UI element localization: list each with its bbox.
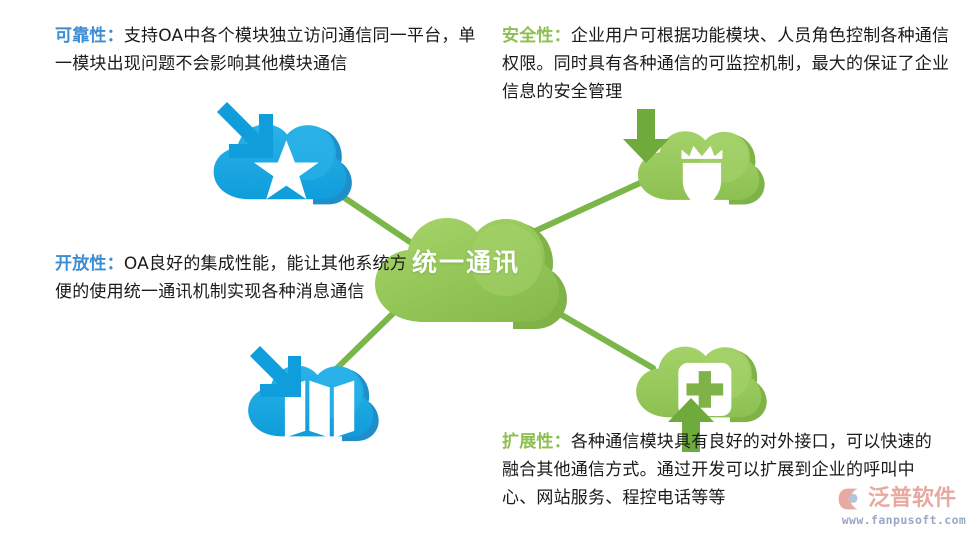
diagram-canvas: 统一通讯 可靠性：支持OA中各个模块独立访问通信同一平台，单一模块出现问题不会影… <box>0 0 976 538</box>
watermark: 泛普软件 www.fanpusoft.com <box>838 486 970 532</box>
text-block-openness: 开放性：OA良好的集成性能，能让其他系统方便的使用统一通讯机制实现各种消息通信 <box>55 250 415 306</box>
watermark-url: www.fanpusoft.com <box>838 513 970 527</box>
reliability-lead: 可靠性： <box>55 26 124 46</box>
security-lead: 安全性： <box>502 26 571 46</box>
cloud-highlight <box>470 224 542 296</box>
extensibility-lead: 扩展性： <box>502 432 571 452</box>
arrow-down-right-icon-reliability <box>217 102 273 158</box>
openness-lead: 开放性： <box>55 254 124 274</box>
text-block-security: 安全性：企业用户可根据功能模块、人员角色控制各种通信权限。同时具有各种通信的可监… <box>502 22 952 106</box>
node-reliability[interactable] <box>214 124 352 204</box>
text-block-reliability: 可靠性：支持OA中各个模块独立访问通信同一平台，单一模块出现问题不会影响其他模块… <box>55 22 485 78</box>
fanpu-logo-icon <box>838 486 864 512</box>
node-openness[interactable] <box>248 366 379 441</box>
connector-hub-security <box>520 183 640 238</box>
arrow-down-right-icon-openness <box>250 346 301 397</box>
watermark-name: 泛普软件 <box>868 486 956 512</box>
